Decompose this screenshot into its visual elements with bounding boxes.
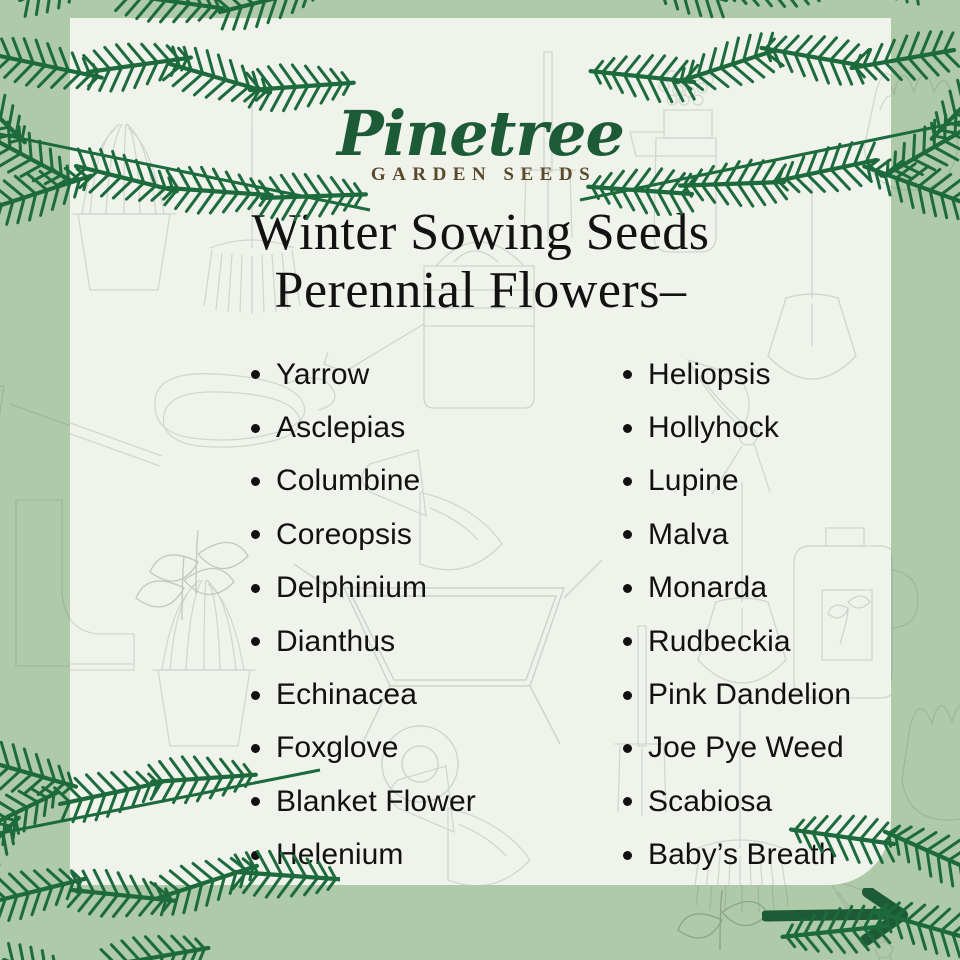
seed-name: Echinacea	[276, 678, 417, 712]
bullet-icon	[251, 370, 260, 379]
bullet-icon	[251, 424, 260, 433]
right-column: Heliopsis Hollyhock Lupine Malva Monarda…	[623, 348, 851, 882]
list-item: Yarrow	[251, 348, 476, 401]
list-item: Coreopsis	[251, 508, 476, 561]
brand-script-name: Pinetree	[70, 106, 891, 162]
seed-name: Monarda	[648, 571, 767, 605]
bullet-icon	[251, 530, 260, 539]
list-item: Hollyhock	[623, 401, 851, 454]
seed-name: Joe Pye Weed	[648, 731, 844, 765]
title-line-2: Perennial Flowers–	[70, 262, 891, 320]
seed-name: Delphinium	[276, 571, 427, 605]
title-line-1: Winter Sowing Seeds	[70, 204, 891, 262]
bullet-icon	[623, 424, 632, 433]
bullet-icon	[251, 691, 260, 700]
bullet-icon	[251, 851, 260, 860]
seed-name: Pink Dandelion	[648, 678, 851, 712]
seed-name: Foxglove	[276, 731, 399, 765]
seed-name: Columbine	[276, 464, 420, 498]
list-item: Monarda	[623, 562, 851, 615]
seed-name: Scabiosa	[648, 785, 772, 819]
bullet-icon	[251, 637, 260, 646]
bullet-icon	[623, 370, 632, 379]
arrow-right-icon	[762, 888, 932, 948]
list-item: Scabiosa	[623, 775, 851, 828]
list-item: Helenium	[251, 829, 476, 882]
list-item: Malva	[623, 508, 851, 561]
seed-name: Yarrow	[276, 358, 369, 392]
bullet-icon	[623, 477, 632, 486]
bullet-icon	[623, 851, 632, 860]
bullet-icon	[251, 797, 260, 806]
list-item: Rudbeckia	[623, 615, 851, 668]
seed-name: Rudbeckia	[648, 625, 791, 659]
list-item: Lupine	[623, 455, 851, 508]
content-card: Pinetree GARDEN SEEDS Winter Sowing Seed…	[70, 18, 891, 885]
seed-name: Asclepias	[276, 411, 405, 445]
brand-subtitle: GARDEN SEEDS	[70, 164, 891, 186]
list-item: Delphinium	[251, 562, 476, 615]
list-item: Pink Dandelion	[623, 668, 851, 721]
left-seed-list: Yarrow Asclepias Columbine Coreopsis Del…	[251, 348, 476, 882]
bullet-icon	[623, 691, 632, 700]
list-item: Echinacea	[251, 668, 476, 721]
page-title: Winter Sowing Seeds Perennial Flowers–	[70, 204, 891, 320]
bullet-icon	[623, 584, 632, 593]
seed-name: Dianthus	[276, 625, 395, 659]
bullet-icon	[623, 637, 632, 646]
bullet-icon	[623, 744, 632, 753]
seed-name: Hollyhock	[648, 411, 779, 445]
seed-name: Lupine	[648, 464, 739, 498]
list-item: Asclepias	[251, 401, 476, 454]
bullet-icon	[251, 477, 260, 486]
seed-name: Coreopsis	[276, 518, 412, 552]
list-item: Blanket Flower	[251, 775, 476, 828]
list-item: Columbine	[251, 455, 476, 508]
bullet-icon	[623, 797, 632, 806]
seed-name: Heliopsis	[648, 358, 771, 392]
seed-name: Helenium	[276, 838, 404, 872]
seed-name: Malva	[648, 518, 729, 552]
brand-logo: Pinetree GARDEN SEEDS	[70, 106, 891, 186]
seed-name: Blanket Flower	[276, 785, 476, 819]
right-seed-list: Heliopsis Hollyhock Lupine Malva Monarda…	[623, 348, 851, 882]
list-item: Joe Pye Weed	[623, 722, 851, 775]
bullet-icon	[251, 744, 260, 753]
bullet-icon	[623, 530, 632, 539]
left-column: Yarrow Asclepias Columbine Coreopsis Del…	[251, 348, 476, 882]
list-item: Baby’s Breath	[623, 829, 851, 882]
list-item: Heliopsis	[623, 348, 851, 401]
list-item: Foxglove	[251, 722, 476, 775]
poster-canvas: Pinetree GARDEN SEEDS Winter Sowing Seed…	[0, 0, 960, 960]
list-item: Dianthus	[251, 615, 476, 668]
seed-name: Baby’s Breath	[648, 838, 836, 872]
bullet-icon	[251, 584, 260, 593]
